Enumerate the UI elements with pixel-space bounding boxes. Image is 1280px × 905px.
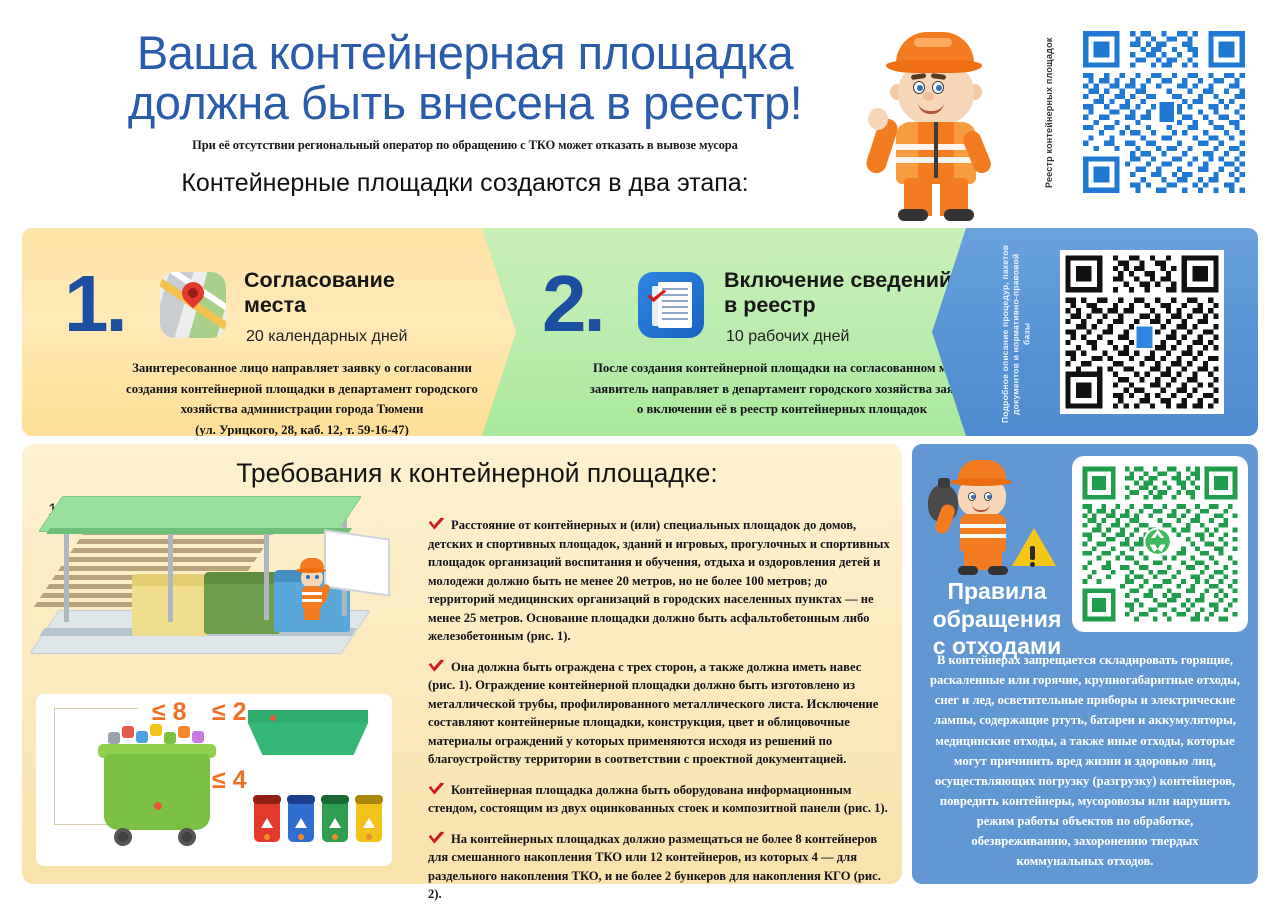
requirement-text: Расстояние от контейнерных и (или) специ… xyxy=(428,518,890,643)
page-title: Ваша контейнерная площадка должна быть в… xyxy=(70,28,860,128)
map-pin-icon xyxy=(160,272,226,338)
requirement-item: Она должна быть ограждена с трех сторон,… xyxy=(428,658,890,769)
step-1-body-line: Заинтересованное лицо направляет заявку … xyxy=(42,358,562,379)
check-icon xyxy=(428,831,445,845)
requirement-text: На контейнерных площадках должно размеща… xyxy=(428,832,881,902)
qr-svg xyxy=(1060,250,1224,414)
container-counts-illustration: ≤ 8 ≤ 2 ≤ 4 xyxy=(36,694,392,866)
step-2-number: 2. xyxy=(542,264,603,344)
step-1-body-line: хозяйства администрации города Тюмени xyxy=(42,399,562,420)
step-2-heading: Включение сведений в реестр xyxy=(724,268,952,319)
red-check-icon xyxy=(646,290,668,304)
step-1-body: Заинтересованное лицо направляет заявку … xyxy=(42,358,562,441)
qr-svg xyxy=(1078,26,1250,198)
procedure-qr-code[interactable] xyxy=(1060,250,1224,414)
waste-rules-panel: Правила обращения с отходами xyxy=(912,444,1258,884)
information-stand-icon xyxy=(324,529,390,596)
qr-svg xyxy=(1078,462,1242,626)
requirement-item: Контейнерная площадка должна быть оборуд… xyxy=(428,781,890,818)
requirement-text: Контейнерная площадка должна быть оборуд… xyxy=(428,783,888,816)
step-1-duration: 20 календарных дней xyxy=(246,328,407,346)
requirements-bullet-list: Расстояние от контейнерных и (или) специ… xyxy=(428,516,890,905)
requirement-item: На контейнерных площадках должно размеща… xyxy=(428,830,890,904)
infographic-page: Ваша контейнерная площадка должна быть в… xyxy=(0,0,1280,905)
step-1-body-line: создания контейнерной площадки в департа… xyxy=(42,379,562,400)
title-block: Ваша контейнерная площадка должна быть в… xyxy=(70,28,860,198)
count-separate-containers: ≤ 4 xyxy=(212,766,247,795)
stages-heading: Контейнерные площадки создаются в два эт… xyxy=(70,169,860,198)
document-check-icon xyxy=(638,272,704,338)
count-bunkers: ≤ 2 xyxy=(212,698,247,727)
requirement-item: Расстояние от контейнерных и (или) специ… xyxy=(428,516,890,646)
worker-mascot-icon xyxy=(868,26,1018,222)
check-icon xyxy=(428,517,445,531)
header: Ваша контейнерная площадка должна быть в… xyxy=(0,0,1280,222)
rules-title: Правила обращения с отходами xyxy=(922,578,1072,661)
container-platform-illustration xyxy=(36,492,366,662)
step-2-duration: 10 рабочих дней xyxy=(726,328,849,346)
page-subtitle: При её отсутствии региональный оператор … xyxy=(70,138,860,153)
registry-qr-label: Реестр контейнерных площадок xyxy=(1044,38,1054,188)
registry-qr-code[interactable] xyxy=(1078,26,1250,198)
bunker-icon xyxy=(248,710,368,756)
worker-with-bag-icon xyxy=(926,458,1044,578)
procedure-qr-label: Подробное описание процедур, пакетов док… xyxy=(1000,244,1032,424)
check-icon xyxy=(428,782,445,796)
requirement-text: Она должна быть ограждена с трех сторон,… xyxy=(428,660,878,767)
green-container-icon xyxy=(98,716,216,842)
requirements-title: Требования к контейнерной площадке: xyxy=(22,458,902,489)
step-1-heading: Согласование места xyxy=(244,268,395,319)
step-1-number: 1. xyxy=(64,264,125,344)
separate-collection-bins-icon xyxy=(254,786,382,842)
check-icon xyxy=(428,659,445,673)
rules-body-text: В контейнерах запрещается складировать г… xyxy=(928,650,1242,872)
mini-worker-icon xyxy=(292,558,332,622)
waste-rules-qr-code[interactable] xyxy=(1072,456,1248,632)
